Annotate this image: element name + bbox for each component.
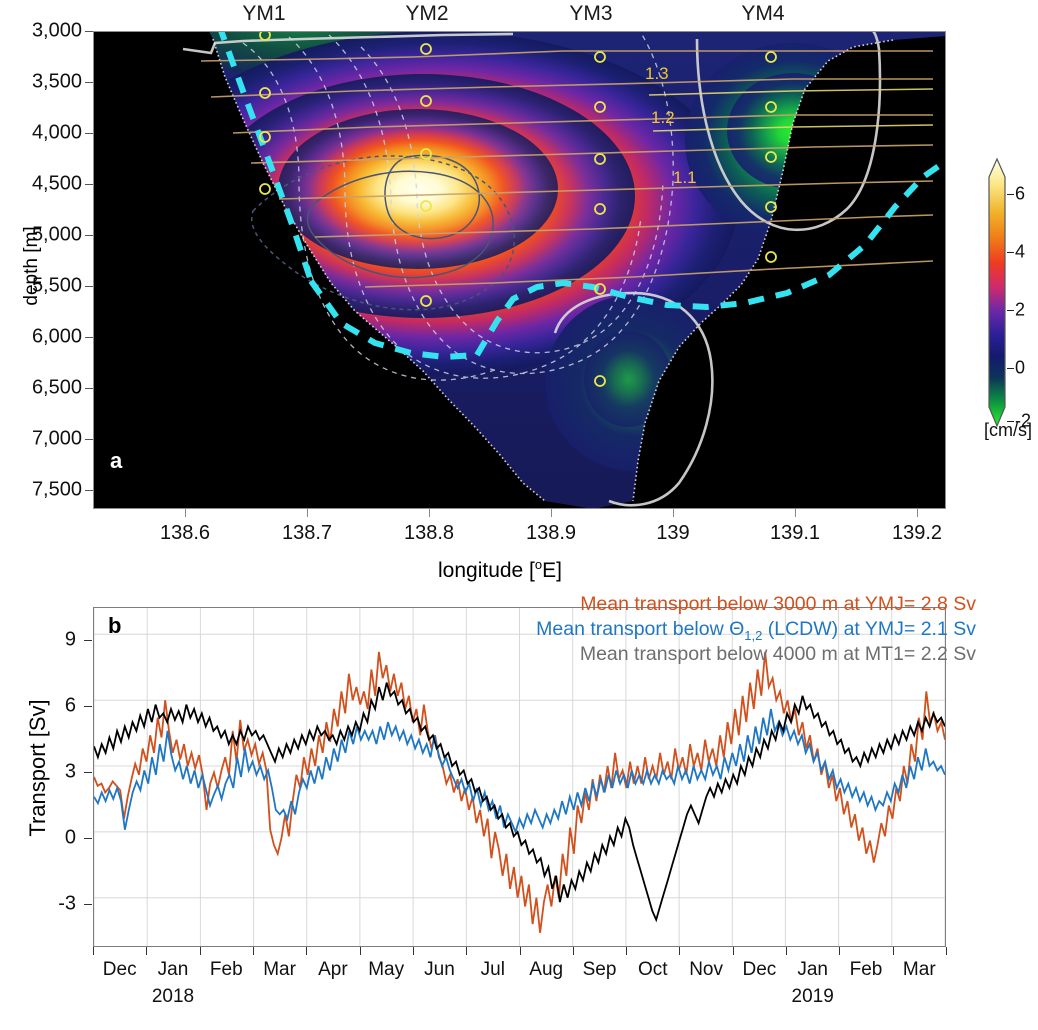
isotherm-label-12: 1.2 bbox=[651, 108, 675, 127]
transport-ytickmark bbox=[84, 772, 92, 773]
month-label-jun-6: Jun bbox=[424, 959, 455, 981]
panel-b-transport-timeseries: b Mean transport below 3000 m at YMJ= 2.… bbox=[0, 585, 1038, 1030]
legend-entry-4000m: Mean transport below 4000 m at MT1= 2.2 … bbox=[580, 643, 976, 666]
depth-tick-3000: 3,000 bbox=[0, 20, 82, 43]
mooring-label-ym4: YM4 bbox=[741, 2, 784, 26]
depth-tickmark bbox=[85, 133, 93, 134]
month-label-feb-14: Feb bbox=[850, 959, 883, 981]
month-label-mar-3: Mar bbox=[263, 959, 296, 981]
month-label-jul-7: Jul bbox=[481, 959, 505, 981]
colorbar-tickmark bbox=[1007, 194, 1014, 195]
depth-tickmark bbox=[85, 286, 93, 287]
month-label-dec-0: Dec bbox=[103, 959, 137, 981]
month-label-sep-9: Sep bbox=[583, 959, 617, 981]
lon-tickmark bbox=[185, 509, 186, 517]
depth-tickmark bbox=[85, 31, 93, 32]
depth-tickmark bbox=[85, 388, 93, 389]
longitude-axis-label: longitude [oE] bbox=[0, 557, 1000, 583]
transport-ytickmark bbox=[84, 838, 92, 839]
colorbar-tick-6: 6 bbox=[1015, 184, 1025, 205]
lon-tickmark bbox=[795, 509, 796, 517]
legend-lcdw-post: (LCDW) at YMJ= 2.1 Sv bbox=[762, 618, 976, 640]
colorbar-tick-4: 4 bbox=[1015, 242, 1025, 263]
month-label-nov-11: Nov bbox=[689, 959, 723, 981]
depth-tick-4000: 4,000 bbox=[0, 122, 82, 145]
year-label-2018: 2018 bbox=[152, 986, 194, 1008]
month-tickmark bbox=[573, 947, 574, 955]
month-label-mar-15: Mar bbox=[903, 959, 936, 981]
lon-tick-139: 139 bbox=[656, 522, 689, 545]
month-label-aug-8: Aug bbox=[529, 959, 563, 981]
colorbar-tickmark bbox=[1007, 252, 1014, 253]
legend-entry-3000m: Mean transport below 3000 m at YMJ= 2.8 … bbox=[580, 593, 976, 616]
transport-ytickmark bbox=[84, 640, 92, 641]
month-label-jan-1: Jan bbox=[158, 959, 189, 981]
month-tickmark bbox=[466, 947, 467, 955]
month-tickmark bbox=[253, 947, 254, 955]
lon-tickmark bbox=[429, 509, 430, 517]
month-tickmark bbox=[733, 947, 734, 955]
depth-tick-7000: 7,000 bbox=[0, 428, 82, 451]
colorbar-tick-2: 2 bbox=[1015, 300, 1025, 321]
longitude-axis-label-text: longitude [oE] bbox=[438, 559, 562, 582]
isotherm-label-13: 1.3 bbox=[645, 64, 669, 83]
month-tickmark bbox=[146, 947, 147, 955]
mooring-label-ym2: YM2 bbox=[405, 2, 448, 26]
mooring-label-ym3: YM3 bbox=[569, 2, 612, 26]
colorbar-tick-0: 0 bbox=[1015, 358, 1025, 379]
transport-axis-label: Transport [Sv] bbox=[25, 638, 51, 898]
lon-tickmark bbox=[673, 509, 674, 517]
year-label-2019: 2019 bbox=[792, 986, 834, 1008]
month-label-may-5: May bbox=[368, 959, 404, 981]
legend-entry-lcdw: Mean transport below Θ1,2 (LCDW) at YMJ=… bbox=[536, 618, 976, 643]
depth-tickmark bbox=[85, 439, 93, 440]
depth-tickmark bbox=[85, 490, 93, 491]
month-tickmark bbox=[839, 947, 840, 955]
section-svg: 1.3 1.2 1.1 bbox=[93, 31, 946, 509]
month-label-jan-13: Jan bbox=[797, 959, 828, 981]
month-label-dec-12: Dec bbox=[742, 959, 776, 981]
month-tickmark bbox=[626, 947, 627, 955]
month-tickmark bbox=[306, 947, 307, 955]
month-tickmark bbox=[786, 947, 787, 955]
lon-tick-1392: 139.2 bbox=[892, 522, 942, 545]
month-label-feb-2: Feb bbox=[210, 959, 243, 981]
month-tickmark bbox=[893, 947, 894, 955]
depth-tickmark bbox=[85, 184, 93, 185]
month-label-apr-4: Apr bbox=[318, 959, 348, 981]
lon-tick-1388: 138.8 bbox=[404, 522, 454, 545]
transport-ytickmark bbox=[84, 904, 92, 905]
colorbar-gradient bbox=[989, 159, 1005, 426]
depth-tickmark bbox=[85, 337, 93, 338]
month-tickmark bbox=[200, 947, 201, 955]
lon-tickmark bbox=[551, 509, 552, 517]
transport-ytickmark bbox=[84, 706, 92, 707]
panel-a-letter: a bbox=[110, 448, 122, 474]
lon-tickmark bbox=[917, 509, 918, 517]
legend-lcdw-pre: Mean transport below Θ bbox=[536, 618, 744, 640]
colorbar-units: [cm/s] bbox=[984, 420, 1032, 441]
depth-tick-6000: 6,000 bbox=[0, 326, 82, 349]
velocity-section-plot: 1.3 1.2 1.1 bbox=[93, 31, 946, 509]
lon-tick-1386: 138.6 bbox=[160, 522, 210, 545]
isotherm-label-11: 1.1 bbox=[673, 168, 697, 187]
depth-tick-4500: 4,500 bbox=[0, 173, 82, 196]
lon-tick-1391: 139.1 bbox=[770, 522, 820, 545]
month-tickmark bbox=[360, 947, 361, 955]
month-tickmark bbox=[946, 947, 947, 955]
depth-tickmark bbox=[85, 235, 93, 236]
panel-b-letter: b bbox=[108, 613, 121, 639]
colorbar-svg bbox=[985, 155, 1037, 430]
colorbar-tickmark bbox=[1007, 368, 1014, 369]
legend-lcdw-subscript: 1,2 bbox=[744, 628, 762, 643]
lon-tick-1389: 138.9 bbox=[526, 522, 576, 545]
panel-a-velocity-section: YM1 YM2 YM3 YM4 bbox=[0, 0, 1038, 585]
month-tickmark bbox=[93, 947, 94, 955]
lon-tick-1387: 138.7 bbox=[282, 522, 332, 545]
depth-axis-label: depth [m] bbox=[21, 206, 43, 326]
depth-tickmark bbox=[85, 82, 93, 83]
month-label-oct-10: Oct bbox=[638, 959, 668, 981]
lon-tickmark bbox=[307, 509, 308, 517]
mooring-label-ym1: YM1 bbox=[242, 2, 285, 26]
colorbar-tickmark bbox=[1007, 310, 1014, 311]
colorbar: 6 4 2 0 -2 bbox=[985, 155, 1037, 430]
depth-tick-7500: 7,500 bbox=[0, 479, 82, 502]
depth-tick-6500: 6,500 bbox=[0, 377, 82, 400]
month-tickmark bbox=[679, 947, 680, 955]
depth-tick-3500: 3,500 bbox=[0, 71, 82, 94]
month-tickmark bbox=[413, 947, 414, 955]
month-tickmark bbox=[520, 947, 521, 955]
